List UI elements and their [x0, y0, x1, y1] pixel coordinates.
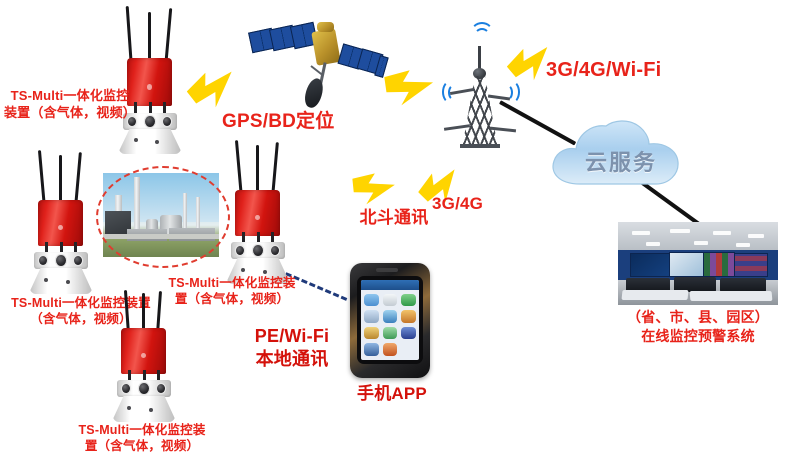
cell-tower-icon[interactable]	[432, 18, 528, 150]
app-icon[interactable]	[383, 327, 397, 340]
mobile-app-label: 手机APP	[352, 383, 432, 405]
app-icon[interactable]	[401, 327, 415, 340]
video-wall-screen	[630, 253, 670, 277]
desk-surface	[621, 290, 688, 300]
device-bottom-label: TS-Multi一体化监控装 置（含气体，视频）	[66, 422, 218, 454]
ceiling-light	[713, 231, 731, 235]
device-red-housing	[235, 190, 280, 236]
app-icon[interactable]	[364, 327, 378, 340]
lightning-bolt-icon	[184, 67, 238, 112]
ceiling-light	[736, 243, 750, 247]
ceiling-light	[646, 242, 660, 246]
app-icon[interactable]	[401, 294, 415, 307]
device-white-cone	[119, 129, 181, 154]
sensor-port-icon	[56, 255, 66, 266]
operator-console	[720, 278, 766, 292]
link-local-label: PE/Wi-Fi 本地通讯	[232, 325, 352, 370]
app-icon[interactable]	[383, 294, 397, 307]
lightning-bolt-icon	[378, 63, 435, 112]
tablet-speaker	[376, 268, 398, 272]
device-red-housing	[38, 200, 83, 246]
device-mid-left[interactable]	[21, 150, 99, 300]
lightning-bolt-icon	[346, 167, 396, 211]
app-icon[interactable]	[401, 310, 415, 323]
app-icon[interactable]	[383, 343, 397, 356]
ceiling-light	[748, 234, 764, 238]
tablet-status-bar	[361, 280, 419, 290]
satellite-body-top	[317, 22, 334, 32]
tablet-screen[interactable]	[361, 280, 419, 360]
refinery-highlight-circle	[96, 166, 230, 268]
device-top-left[interactable]	[110, 2, 188, 154]
device-indicator-dot	[66, 280, 70, 284]
app-icon[interactable]	[364, 294, 378, 307]
tower-lattice	[462, 76, 498, 148]
app-icon[interactable]	[383, 310, 397, 323]
tablet-app-grid[interactable]	[364, 294, 415, 356]
video-wall-screen	[734, 253, 768, 277]
sensor-port-icon	[139, 383, 149, 394]
link-3g4g-label: 3G/4G	[432, 193, 512, 215]
satellite-icon[interactable]	[248, 8, 384, 112]
sensor-port-icon	[271, 246, 279, 255]
device-white-cone	[113, 396, 175, 422]
app-icon	[401, 343, 415, 356]
desk-surface	[690, 291, 773, 301]
device-red-housing	[121, 328, 166, 374]
link-gps-label: GPS/BD定位	[222, 110, 352, 134]
device-bottom[interactable]	[104, 290, 182, 422]
rugged-tablet-icon[interactable]	[350, 263, 430, 378]
ceiling-light	[694, 241, 708, 245]
ceiling-light	[632, 231, 650, 235]
wifi-signal-icon	[474, 28, 490, 44]
app-icon[interactable]	[364, 343, 378, 356]
sensor-port-icon	[145, 116, 155, 127]
tower-base	[460, 144, 500, 148]
cloud-label: 云服务	[546, 145, 696, 177]
sensor-port-icon	[74, 256, 82, 265]
device-indicator-dot	[44, 278, 48, 282]
sensor-port-icon	[253, 245, 263, 256]
device-indicator-dot	[149, 408, 153, 412]
cloud-icon[interactable]: 云服务	[546, 118, 696, 190]
control-room-photo[interactable]	[618, 222, 778, 305]
link-3g4gwifi-label: 3G/4G/Wi-Fi	[546, 58, 706, 84]
sensor-port-icon	[236, 246, 244, 255]
device-white-cone	[30, 268, 92, 294]
device-indicator-dot	[155, 140, 159, 144]
video-wall-screen	[703, 252, 735, 277]
device-mid-center[interactable]	[218, 140, 296, 290]
device-indicator-dot	[127, 406, 131, 410]
sensor-port-icon	[163, 117, 171, 126]
app-icon[interactable]	[364, 310, 378, 323]
sensor-port-icon	[157, 384, 165, 393]
device-top-left-label: TS-Multi一体化监控 装置（含气体，视频）	[2, 88, 138, 121]
diagram-canvas: TS-Multi一体化监控 装置（含气体，视频） TS-Multi一体化监控装置…	[0, 0, 797, 464]
ceiling-light	[670, 229, 690, 233]
sensor-port-icon	[39, 256, 47, 265]
satellite-body	[311, 28, 341, 66]
sensor-port-icon	[122, 384, 130, 393]
control-center-label: （省、市、县、园区） 在线监控预警系统	[600, 308, 796, 346]
video-wall-screen	[669, 252, 704, 277]
device-indicator-dot	[241, 268, 245, 272]
device-indicator-dot	[263, 270, 267, 274]
device-indicator-dot	[134, 138, 138, 142]
